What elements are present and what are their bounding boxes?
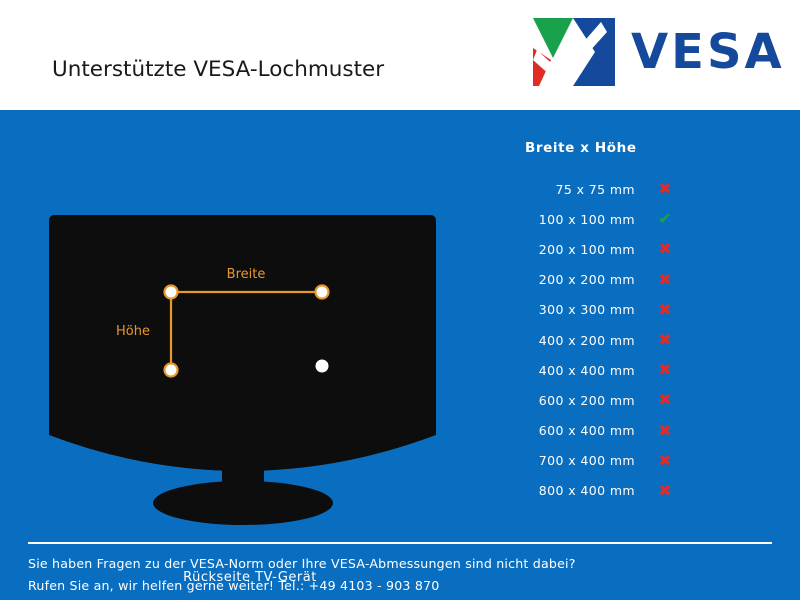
table-row: 600 x 400 mm✖ <box>480 416 760 446</box>
page-title: Unterstützte VESA-Lochmuster <box>52 57 384 82</box>
pattern-size-label: 600 x 200 mm <box>480 393 635 408</box>
vesa-checkmark-logo-icon <box>533 18 615 86</box>
table-row: 400 x 200 mm✖ <box>480 325 760 355</box>
pattern-size-label: 200 x 100 mm <box>480 242 635 257</box>
table-row: 400 x 400 mm✖ <box>480 355 760 385</box>
cross-icon: ✖ <box>635 181 695 197</box>
table-row: 75 x 75 mm✖ <box>480 174 760 204</box>
mount-hole-bottom-left <box>165 364 178 377</box>
cross-icon: ✖ <box>635 423 695 439</box>
mount-hole-top-right <box>316 286 329 299</box>
cross-icon: ✖ <box>635 453 695 469</box>
height-label: Höhe <box>116 324 150 339</box>
cross-icon: ✖ <box>635 241 695 257</box>
tv-diagram-svg: Breite Höhe <box>40 185 460 585</box>
table-row: 700 x 400 mm✖ <box>480 446 760 476</box>
mount-hole-top-left <box>165 286 178 299</box>
footer-divider <box>28 542 772 544</box>
vesa-info-page: Unterstützte VESA-Lochmuster VESA <box>0 0 800 600</box>
vesa-pattern-table: Breite x Höhe 75 x 75 mm✖100 x 100 mm✔20… <box>480 140 760 506</box>
pattern-size-label: 700 x 400 mm <box>480 453 635 468</box>
cross-icon: ✖ <box>635 272 695 288</box>
footer-line-2: Rufen Sie an, wir helfen gerne weiter! T… <box>28 575 788 597</box>
page-header: Unterstützte VESA-Lochmuster VESA <box>0 0 800 110</box>
table-row: 800 x 400 mm✖ <box>480 476 760 506</box>
pattern-size-label: 75 x 75 mm <box>480 182 635 197</box>
table-column-header: Breite x Höhe <box>480 140 760 156</box>
tv-screen-shape <box>49 215 436 423</box>
check-icon: ✔ <box>635 211 695 227</box>
pattern-size-label: 100 x 100 mm <box>480 212 635 227</box>
mount-hole-bottom-right <box>316 360 329 373</box>
content-panel: Breite Höhe Rückseite TV-Gerät Breite x … <box>0 110 800 600</box>
width-label: Breite <box>227 267 266 282</box>
vesa-logo-text: VESA <box>631 24 785 80</box>
cross-icon: ✖ <box>635 392 695 408</box>
table-row: 600 x 200 mm✖ <box>480 385 760 415</box>
pattern-size-label: 600 x 400 mm <box>480 423 635 438</box>
pattern-size-label: 800 x 400 mm <box>480 483 635 498</box>
cross-icon: ✖ <box>635 302 695 318</box>
table-row: 300 x 300 mm✖ <box>480 295 760 325</box>
tv-bottom-bezel <box>49 413 436 471</box>
table-row-list: 75 x 75 mm✖100 x 100 mm✔200 x 100 mm✖200… <box>480 174 760 506</box>
pattern-size-label: 300 x 300 mm <box>480 302 635 317</box>
table-row: 200 x 200 mm✖ <box>480 265 760 295</box>
footer-contact: Sie haben Fragen zu der VESA-Norm oder I… <box>28 553 788 597</box>
table-row: 100 x 100 mm✔ <box>480 204 760 234</box>
table-row: 200 x 100 mm✖ <box>480 234 760 264</box>
vesa-logo: VESA <box>533 18 783 88</box>
cross-icon: ✖ <box>635 362 695 378</box>
cross-icon: ✖ <box>635 332 695 348</box>
pattern-size-label: 400 x 200 mm <box>480 333 635 348</box>
cross-icon: ✖ <box>635 483 695 499</box>
pattern-size-label: 200 x 200 mm <box>480 272 635 287</box>
pattern-size-label: 400 x 400 mm <box>480 363 635 378</box>
footer-line-1: Sie haben Fragen zu der VESA-Norm oder I… <box>28 553 788 575</box>
tv-stand-base <box>153 481 333 525</box>
